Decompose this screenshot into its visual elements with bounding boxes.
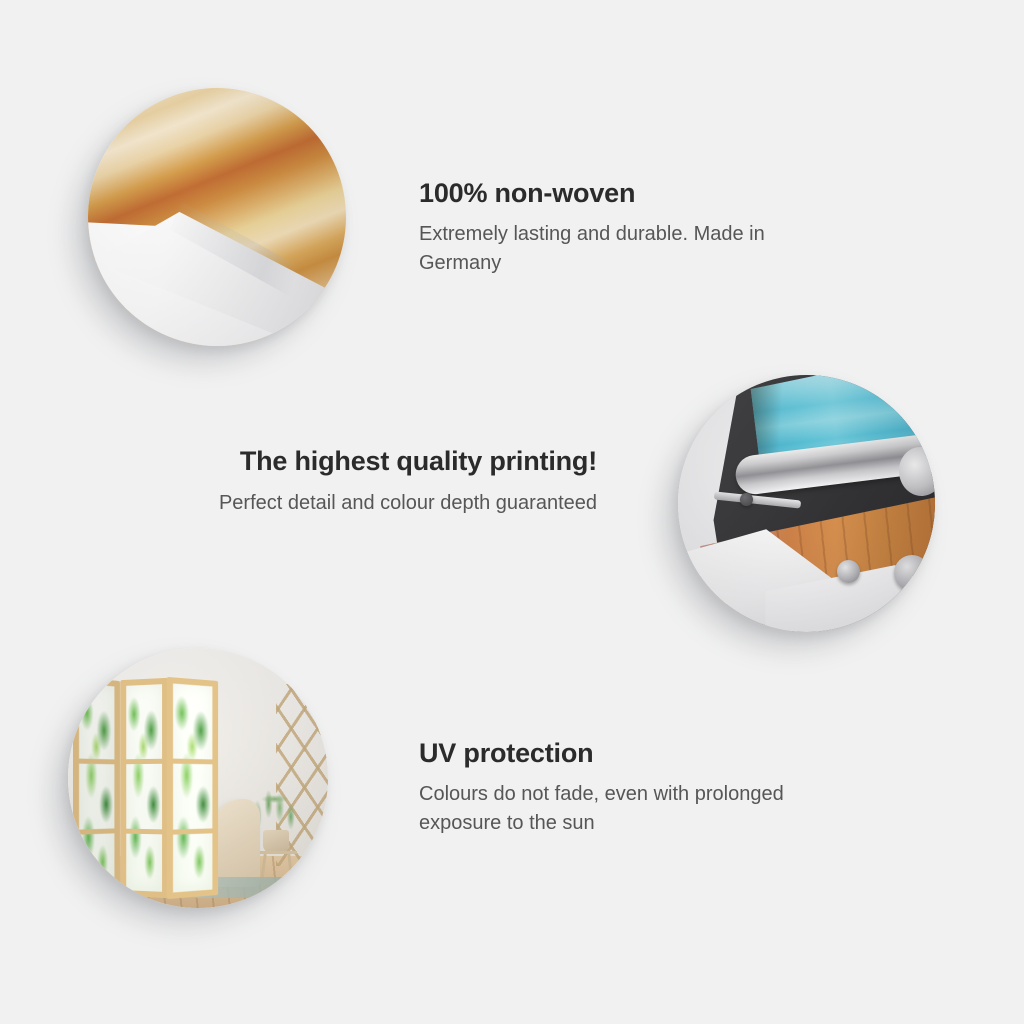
feature-text-non-woven: 100% non-woven Extremely lasting and dur… (419, 176, 849, 278)
feature-body-non-woven: Extremely lasting and durable. Made in G… (419, 220, 849, 278)
tropical-room-divider-icon (68, 648, 328, 908)
feature-body-uv-protection: Colours do not fade, even with prolonged… (419, 780, 819, 838)
divider-panel (167, 677, 218, 900)
vignette-overlay (678, 375, 935, 632)
feature-heading-uv-protection: UV protection (419, 736, 819, 770)
divider-panel (120, 678, 168, 899)
folding-room-divider (73, 679, 234, 897)
divider-panel (73, 677, 120, 900)
feature-infographic: 100% non-woven Extremely lasting and dur… (0, 0, 1024, 1024)
feature-text-quality-printing: The highest quality printing! Perfect de… (197, 444, 597, 518)
feature-heading-non-woven: 100% non-woven (419, 176, 849, 210)
feature-body-quality-printing: Perfect detail and colour depth guarante… (197, 489, 597, 518)
feature-image-uv-protection (68, 648, 328, 908)
feature-heading-quality-printing: The highest quality printing! (197, 444, 597, 478)
peeled-wallpaper-corner-icon (88, 88, 346, 346)
printing-press-icon (678, 375, 935, 632)
feature-image-quality-printing (678, 375, 935, 632)
feature-image-non-woven (88, 88, 346, 346)
feature-text-uv-protection: UV protection Colours do not fade, even … (419, 736, 819, 838)
vignette-overlay (88, 88, 346, 346)
